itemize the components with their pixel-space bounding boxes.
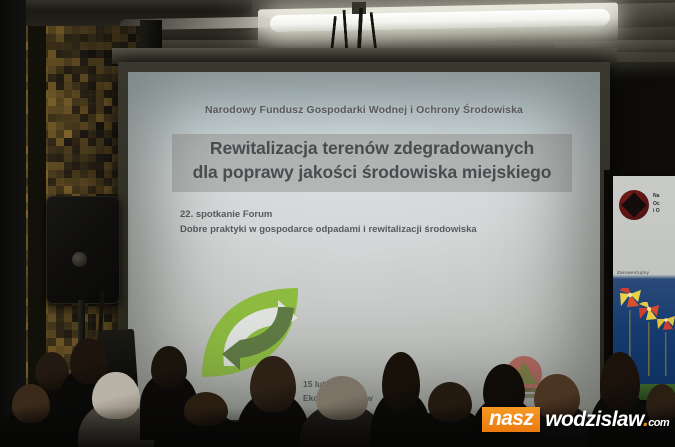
pinwheel-icon — [655, 314, 675, 376]
banner-heading-text: Na Oc i O — [653, 193, 660, 216]
watermark: nasz wodzislaw.com — [482, 404, 669, 434]
speaker-driver-badge — [72, 252, 87, 267]
slide-title-line2: dla poprawy jakości środowiska miejskieg… — [172, 160, 572, 184]
audience-head — [600, 352, 640, 411]
slide-subtitle: 22. spotkanie Forum Dobre praktyki w gos… — [180, 207, 580, 238]
audience-head — [151, 346, 187, 388]
banner-heading-line3: i O — [653, 208, 660, 216]
audience-head — [428, 382, 473, 422]
projection-screen: Narodowy Fundusz Gospodarki Wodnej i Och… — [128, 72, 600, 420]
pa-loudspeaker — [46, 196, 120, 304]
banner-heading-line2: Oc — [653, 201, 660, 209]
watermark-wodzislaw: wodzislaw.com — [545, 409, 669, 430]
wall-left-edge — [0, 0, 26, 447]
slide-title: Rewitalizacja terenów zdegradowanych dla… — [172, 136, 572, 184]
slide-title-line1: Rewitalizacja terenów zdegradowanych — [172, 136, 572, 160]
slide-organization-name: Narodowy Fundusz Gospodarki Wodnej i Och… — [128, 104, 600, 116]
photo-scene: Narodowy Fundusz Gospodarki Wodnej i Och… — [0, 0, 675, 447]
banner-strapline: Zainwestujmy — [617, 270, 649, 275]
audience-head — [184, 392, 229, 426]
audience-head — [316, 376, 368, 420]
audience-head — [12, 384, 50, 423]
watermark-domain-text: wodzislaw — [545, 408, 643, 431]
wall-dark-band — [28, 26, 46, 401]
slide-subtitle-line2: Dobre praktyki w gospodarce odpadami i r… — [180, 222, 580, 237]
watermark-nasz: nasz — [482, 407, 540, 432]
slide-subtitle-line1: 22. spotkanie Forum — [180, 207, 580, 222]
ceiling-beam — [0, 0, 252, 10]
audience-head — [92, 372, 139, 419]
audience-head — [250, 356, 296, 412]
banner-heading-line1: Na — [653, 193, 660, 201]
watermark-tld: com — [648, 417, 669, 429]
